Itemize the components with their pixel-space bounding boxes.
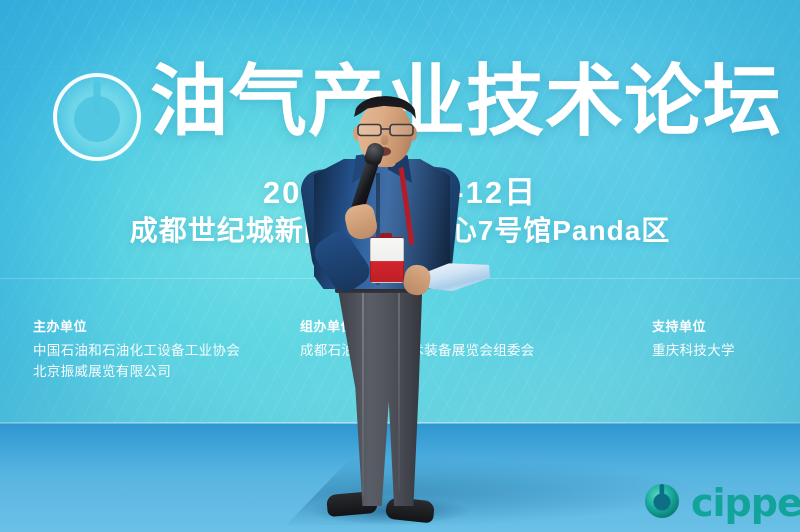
credit-organizer-heading: 主办单位: [33, 316, 240, 335]
credit-supporter-heading: 支持单位: [652, 316, 735, 335]
forum-ring-icon: [47, 67, 147, 167]
credit-supporter-line-1: 重庆科技大学: [652, 340, 735, 361]
cippe-ring-icon: [642, 480, 682, 525]
event-photo: 油气产业技术论坛 2024年 月11-12日 成都世纪城新国际会展中心7号馆Pa…: [0, 0, 800, 532]
speaker-nose: [381, 135, 388, 145]
trouser-crease-right: [398, 291, 400, 491]
speaker-figure: [300, 95, 490, 532]
credit-supporter: 支持单位 重庆科技大学: [652, 316, 735, 361]
credit-organizer-line-2: 北京振威展览有限公司: [33, 361, 240, 382]
trouser-crease-left: [362, 291, 364, 496]
speaker-name-badge: [370, 237, 404, 283]
credit-organizer: 主办单位 中国石油和石油化工设备工业协会 北京振威展览有限公司: [33, 316, 240, 383]
credit-organizer-line-1: 中国石油和石油化工设备工业协会: [33, 340, 240, 361]
speaker-trousers: [336, 288, 424, 506]
cippe-wordmark: cippe: [691, 484, 800, 522]
cippe-logo: cippe: [642, 480, 800, 525]
